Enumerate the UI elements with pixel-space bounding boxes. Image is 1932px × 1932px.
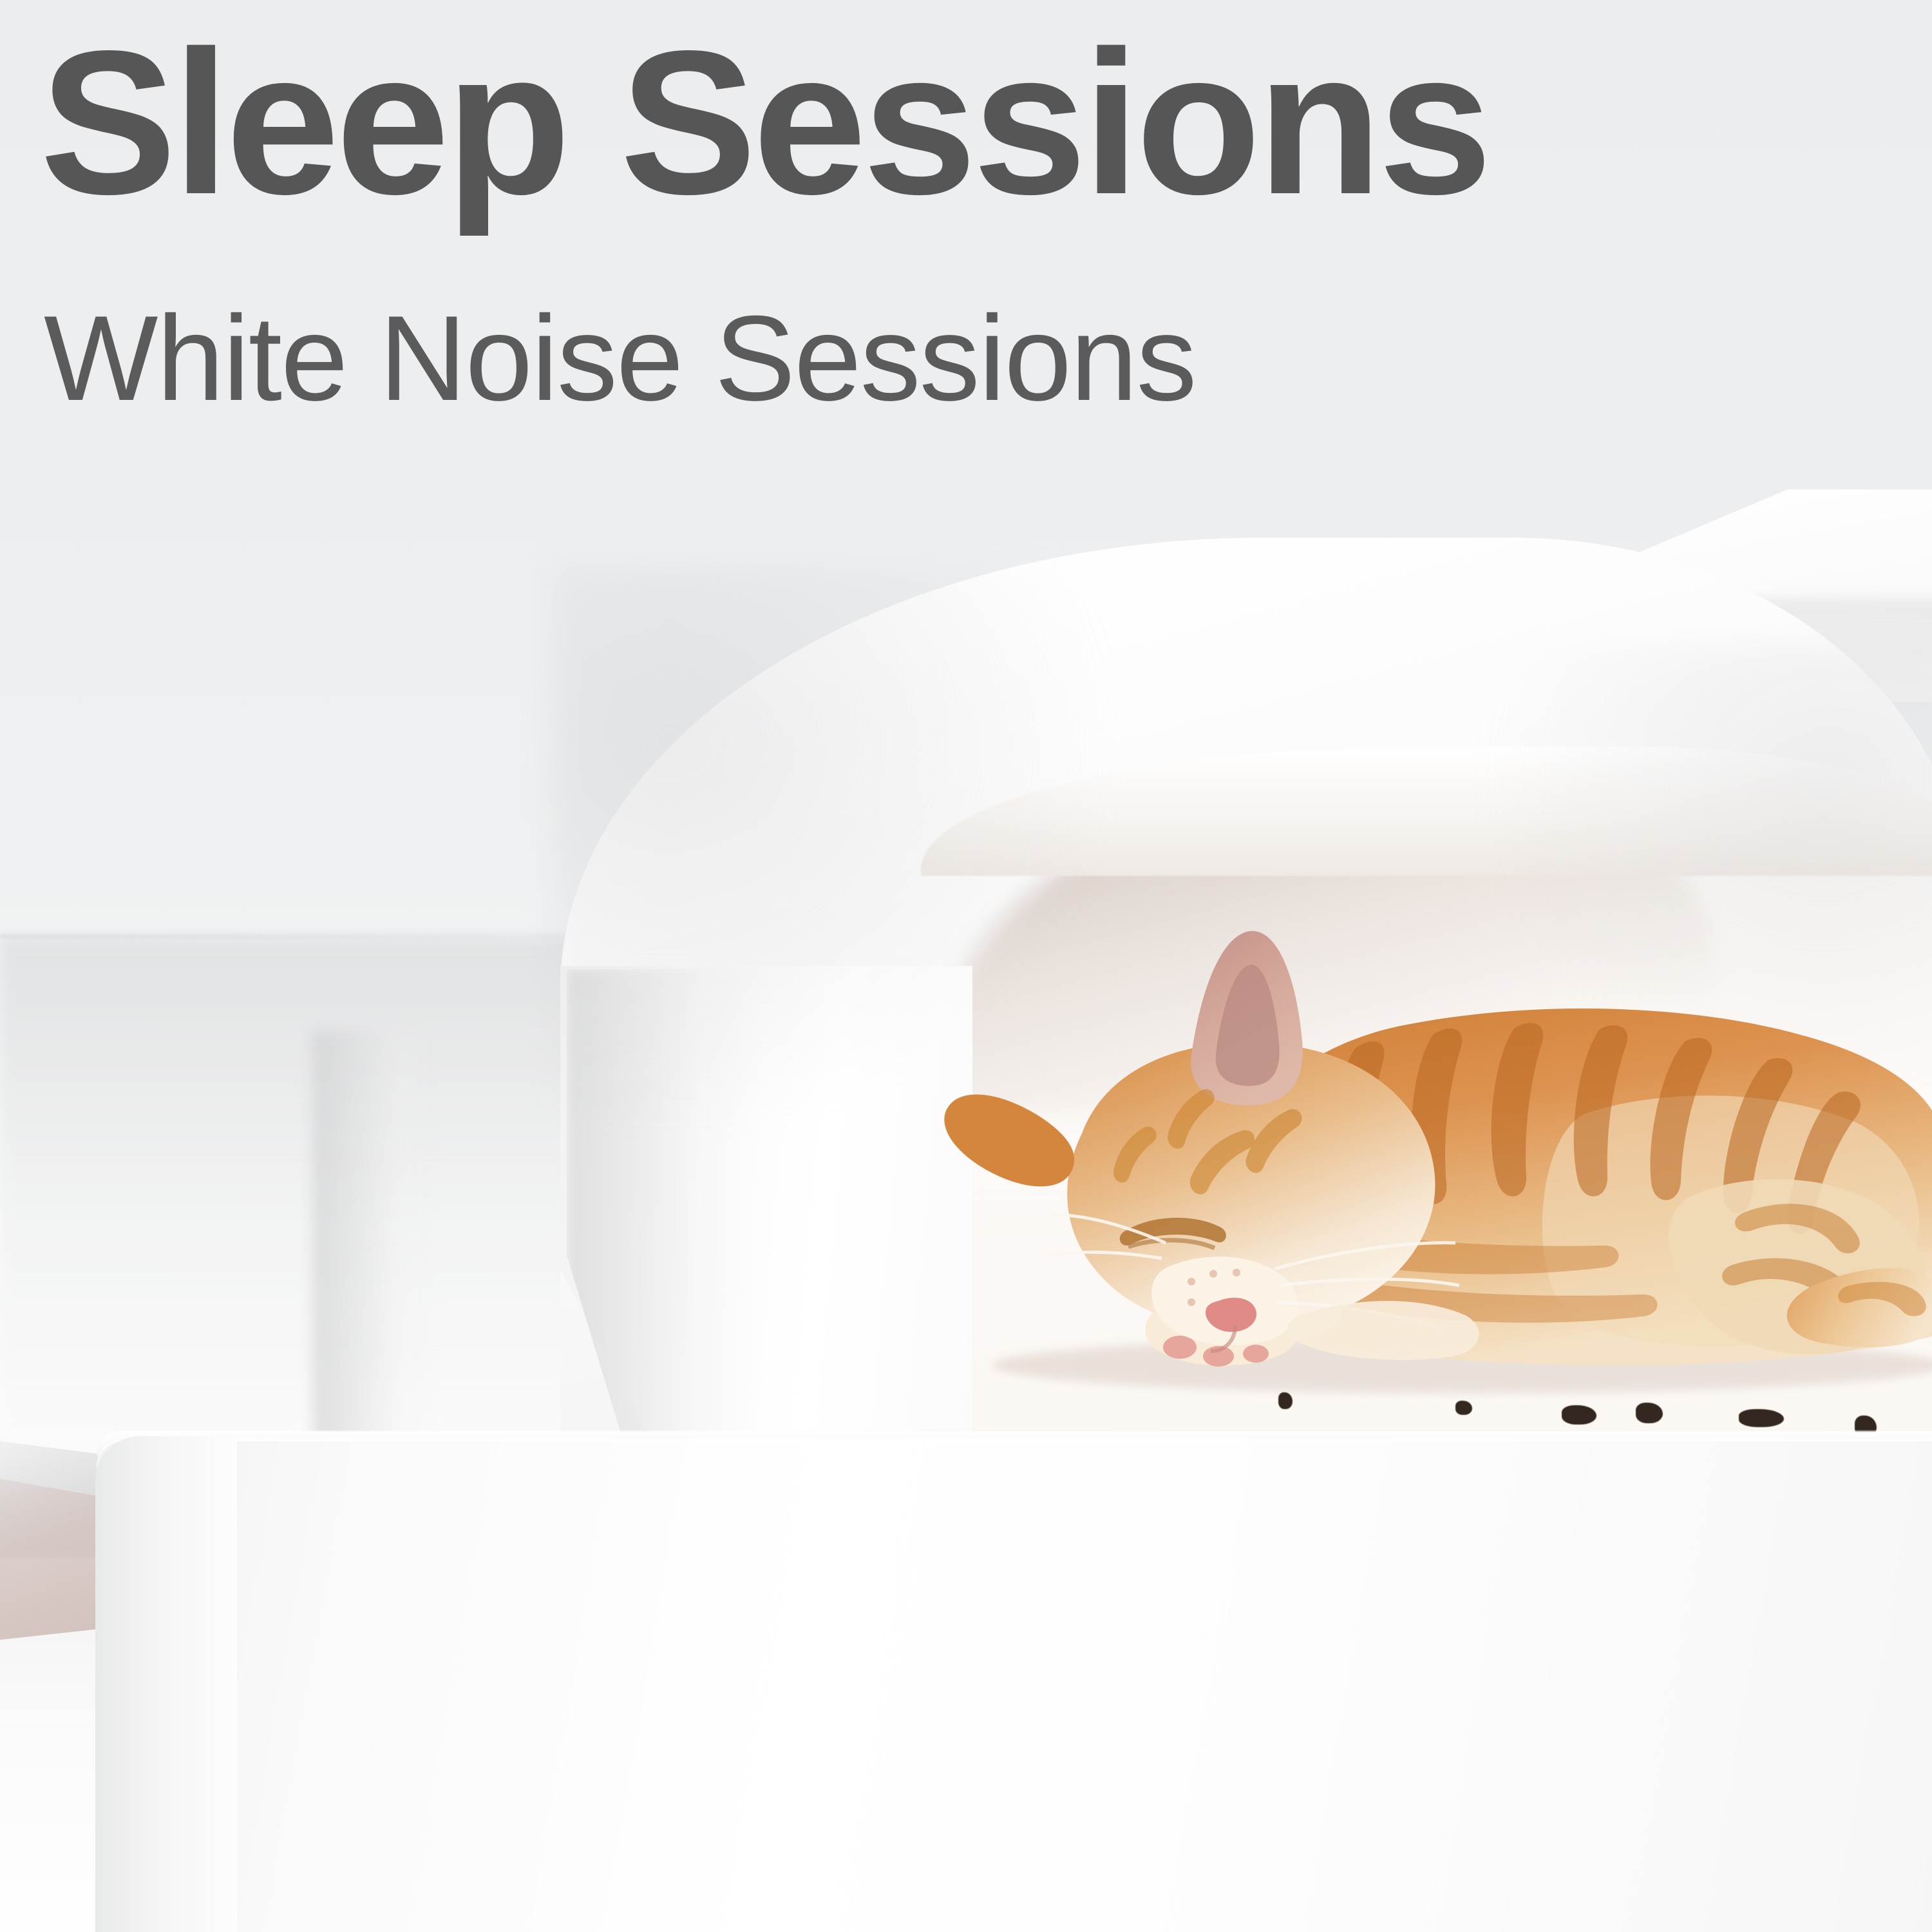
album-cover: Sleep Sessions White Noise Sessions xyxy=(0,0,1932,1932)
step-block-shadow xyxy=(313,1030,435,1475)
slab-fleck xyxy=(1636,1403,1663,1423)
base-block-left-edge xyxy=(95,1436,237,1932)
base-block xyxy=(97,1439,1932,1932)
slab-fleck xyxy=(1455,1401,1472,1415)
slab-fleck xyxy=(1739,1409,1784,1427)
album-title: Sleep Sessions xyxy=(40,21,1488,225)
album-subtitle: White Noise Sessions xyxy=(44,298,1196,419)
slab-fleck xyxy=(1562,1405,1596,1425)
slab-fleck xyxy=(1278,1392,1293,1409)
cat-ear-left xyxy=(944,1095,1074,1187)
sleeping-cat xyxy=(889,921,1932,1410)
